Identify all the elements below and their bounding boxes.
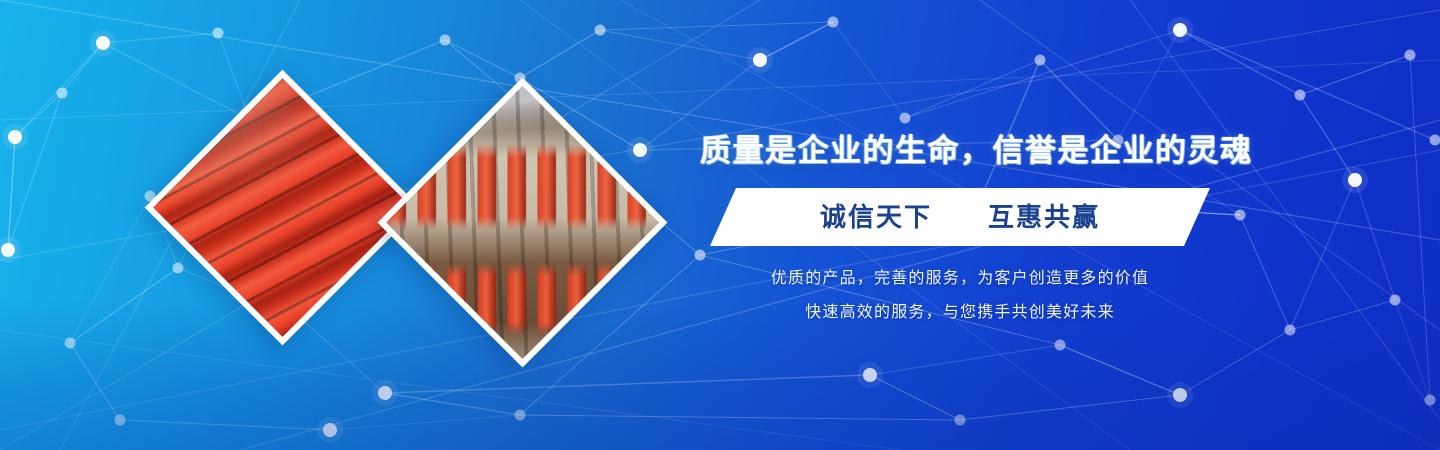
headline-slogan: 质量是企业的生命，信誉是企业的灵魂 xyxy=(700,128,1220,174)
promotional-banner: 质量是企业的生命，信誉是企业的灵魂 诚信天下 互惠共赢 优质的产品，完善的服务，… xyxy=(0,0,1440,450)
banner-text-block: 质量是企业的生命，信誉是企业的灵魂 诚信天下 互惠共赢 优质的产品，完善的服务，… xyxy=(700,128,1220,330)
ribbon-slogan: 诚信天下 互惠共赢 xyxy=(700,188,1220,246)
ribbon-container: 诚信天下 互惠共赢 xyxy=(700,188,1220,246)
subtitle-line-1: 优质的产品，完善的服务，为客户创造更多的价值 xyxy=(700,262,1220,296)
subtitle-line-2: 快速高效的服务，与您携手共创美好未来 xyxy=(700,296,1220,330)
